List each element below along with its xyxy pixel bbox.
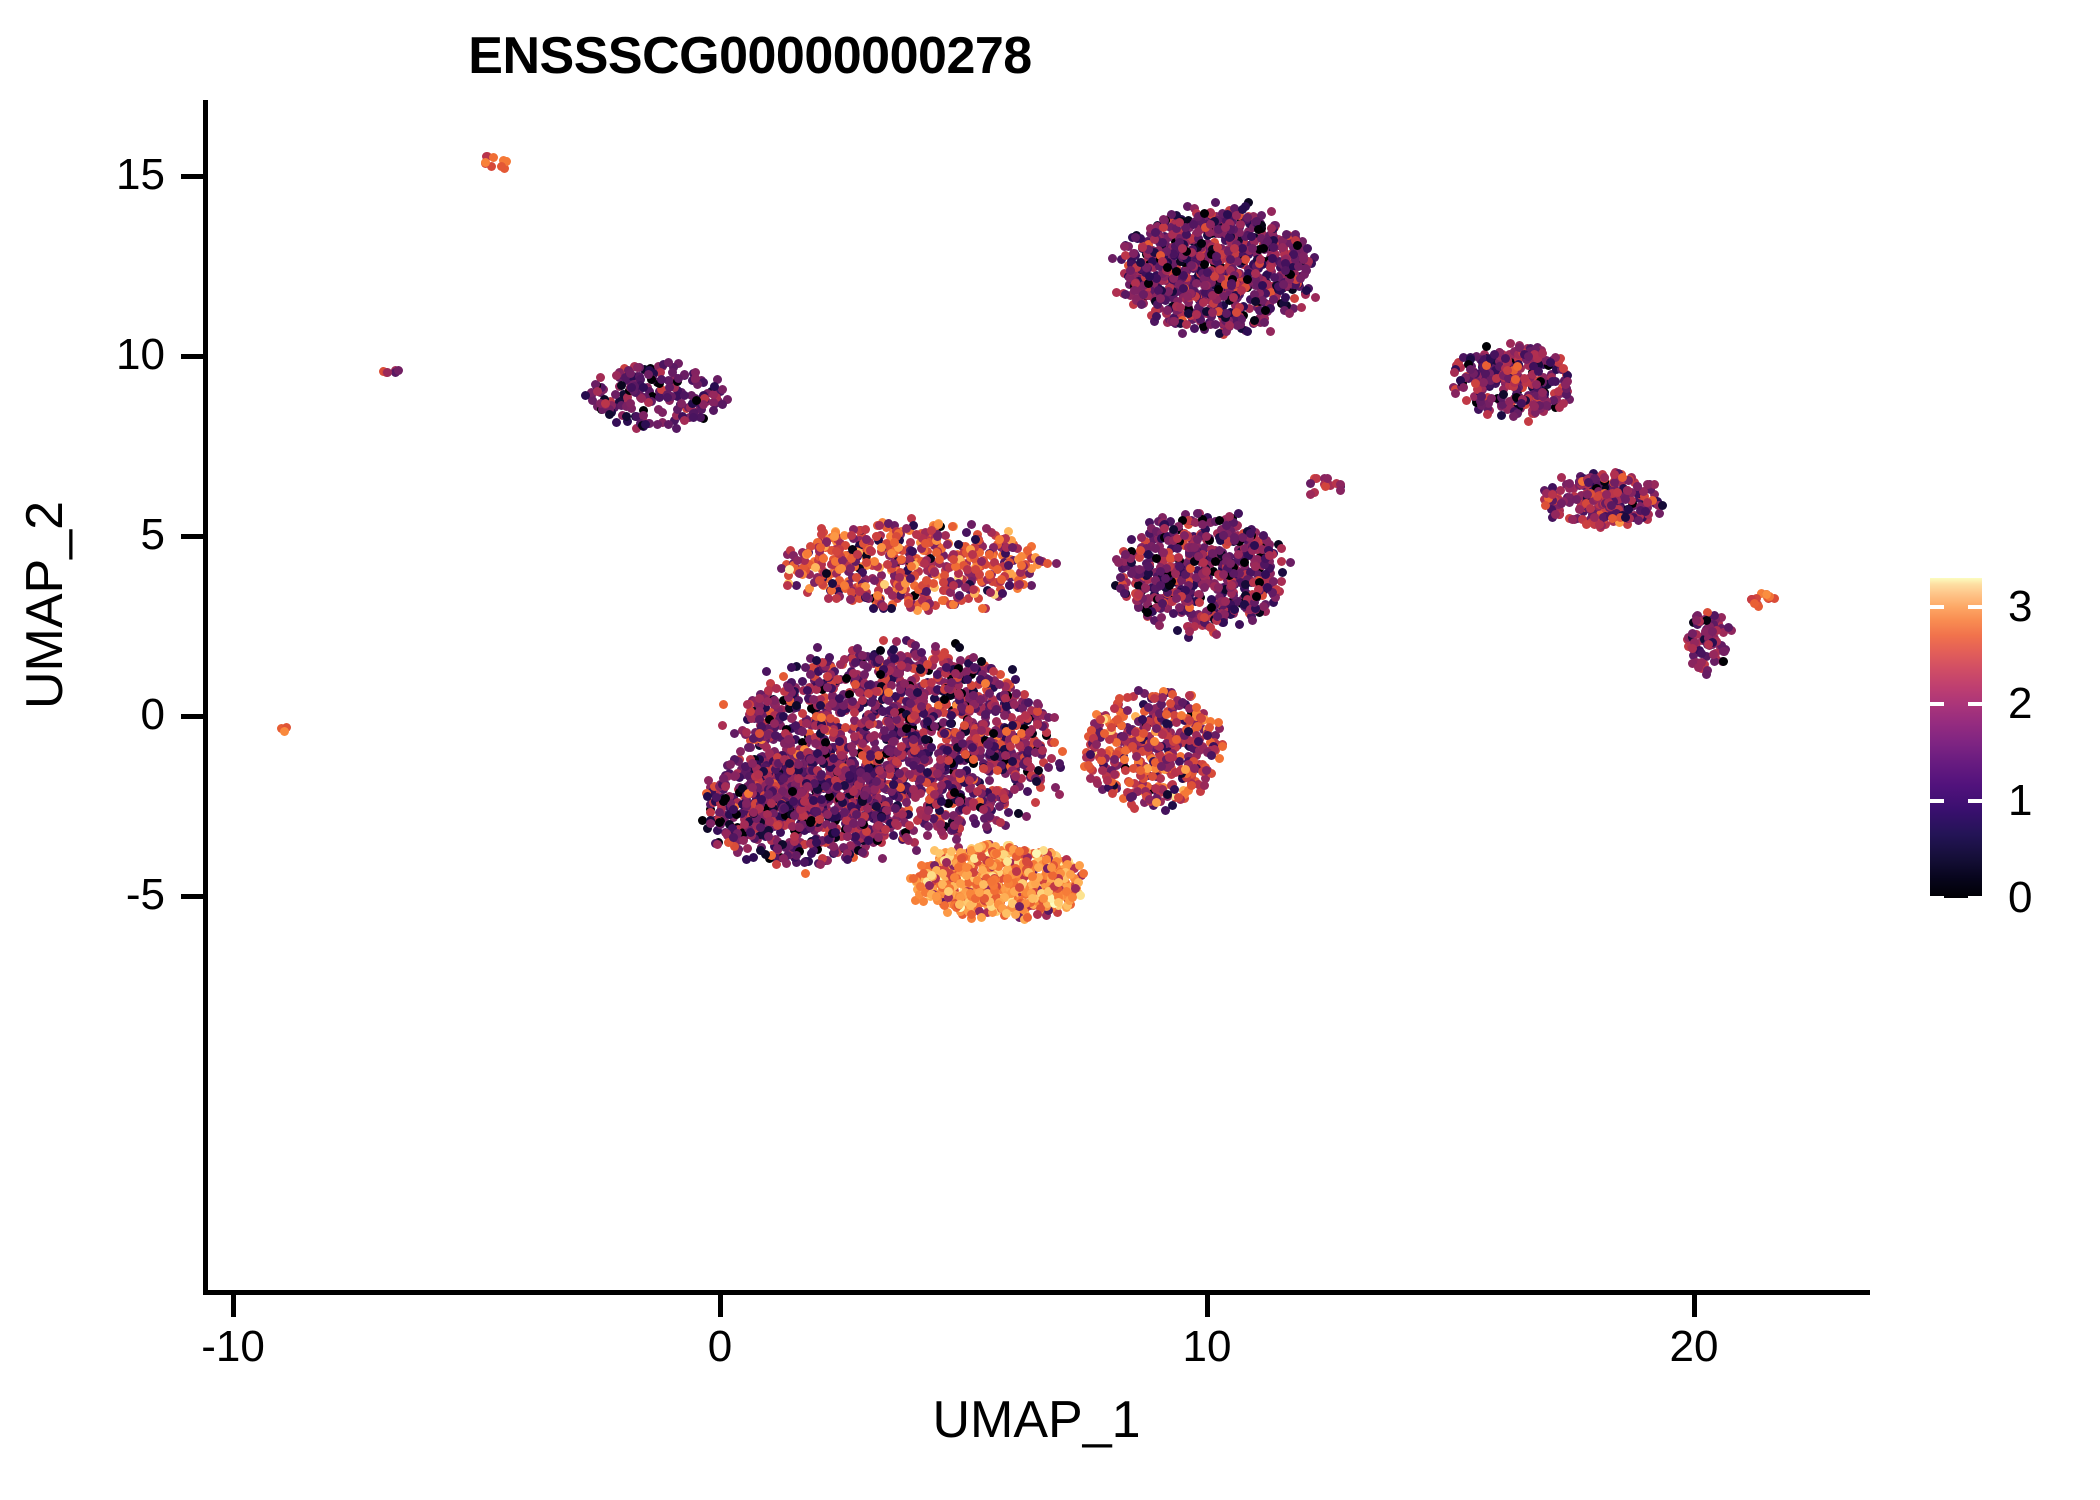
scatter-point	[755, 729, 764, 738]
scatter-point	[923, 768, 932, 777]
scatter-point	[1211, 557, 1220, 566]
scatter-point	[1027, 581, 1036, 590]
scatter-point	[1613, 488, 1622, 497]
scatter-point	[1206, 220, 1215, 229]
scatter-point	[874, 751, 883, 760]
scatter-point	[995, 680, 1004, 689]
scatter-point	[593, 387, 602, 396]
scatter-point	[985, 776, 994, 785]
scatter-point	[627, 383, 636, 392]
scatter-point	[1120, 242, 1129, 251]
scatter-point	[951, 669, 960, 678]
scatter-point	[998, 589, 1007, 598]
scatter-point	[921, 602, 930, 611]
scatter-point	[850, 708, 859, 717]
scatter-point	[795, 569, 804, 578]
scatter-point	[1000, 794, 1009, 803]
scatter-point	[709, 406, 718, 415]
scatter-point	[817, 713, 826, 722]
scatter-point	[1033, 699, 1042, 708]
scatter-point	[889, 831, 898, 840]
scatter-point	[1269, 295, 1278, 304]
scatter-point	[971, 819, 980, 828]
scatter-point	[1243, 275, 1252, 284]
scatter-point	[1190, 543, 1199, 552]
scatter-point	[596, 373, 605, 382]
scatter-point	[891, 804, 900, 813]
scatter-point	[923, 717, 932, 726]
scatter-point	[1724, 623, 1733, 632]
scatter-point	[884, 696, 893, 705]
scatter-point	[1137, 533, 1146, 542]
scatter-point	[943, 540, 952, 549]
scatter-point	[969, 585, 978, 594]
scatter-point	[1022, 812, 1031, 821]
scatter-point	[828, 699, 837, 708]
scatter-point	[736, 747, 745, 756]
scatter-point	[1590, 513, 1599, 522]
scatter-point	[730, 729, 739, 738]
scatter-point	[840, 581, 849, 590]
scatter-point	[1223, 210, 1232, 219]
scatter-point	[1172, 594, 1181, 603]
scatter-point	[905, 770, 914, 779]
scatter-point	[1548, 377, 1557, 386]
scatter-point	[920, 755, 929, 764]
scatter-point	[1762, 590, 1771, 599]
scatter-point	[1282, 230, 1291, 239]
scatter-point	[1203, 268, 1212, 277]
scatter-point	[1015, 580, 1024, 589]
scatter-point	[1023, 787, 1032, 796]
scatter-point	[1708, 627, 1717, 636]
scatter-point	[851, 658, 860, 667]
scatter-point	[832, 594, 841, 603]
scatter-point	[1035, 556, 1044, 565]
scatter-point	[719, 700, 728, 709]
scatter-point	[1290, 294, 1299, 303]
scatter-point	[962, 806, 971, 815]
scatter-point	[850, 732, 859, 741]
scatter-point	[956, 731, 965, 740]
umap-feature-plot: { "plot": { "title": "ENSSSCG00000000278…	[0, 0, 2100, 1500]
scatter-point	[1134, 590, 1143, 599]
scatter-point	[1129, 249, 1138, 258]
scatter-point	[851, 680, 860, 689]
scatter-point	[1538, 388, 1547, 397]
scatter-point	[1197, 239, 1206, 248]
scatter-point	[1155, 621, 1164, 630]
scatter-point	[1499, 390, 1508, 399]
scatter-point	[955, 591, 964, 600]
scatter-point	[866, 546, 875, 555]
scatter-point	[1618, 473, 1627, 482]
scatter-point	[1459, 383, 1468, 392]
scatter-point	[1136, 546, 1145, 555]
scatter-point	[1004, 808, 1013, 817]
scatter-point	[911, 793, 920, 802]
scatter-point	[718, 400, 727, 409]
scatter-point	[993, 766, 1002, 775]
scatter-point	[872, 532, 881, 541]
scatter-point	[1311, 293, 1320, 302]
scatter-point	[1259, 602, 1268, 611]
scatter-point	[965, 705, 974, 714]
scatter-point	[1281, 293, 1290, 302]
scatter-point	[1248, 616, 1257, 625]
scatter-point	[813, 643, 822, 652]
scatter-point	[1286, 558, 1295, 567]
scatter-point	[481, 158, 490, 167]
scatter-point	[1251, 297, 1260, 306]
scatter-point	[940, 695, 949, 704]
scatter-point	[1479, 378, 1488, 387]
scatter-point	[927, 678, 936, 687]
scatter-point	[1302, 286, 1311, 295]
scatter-point	[956, 656, 965, 665]
scatter-point	[1501, 354, 1510, 363]
scatter-point	[743, 700, 752, 709]
scatter-point	[985, 689, 994, 698]
scatter-point	[934, 520, 943, 529]
scatter-point	[955, 643, 964, 652]
scatter-point	[785, 565, 794, 574]
scatter-point	[822, 569, 831, 578]
scatter-point	[644, 370, 653, 379]
scatter-point	[1265, 551, 1274, 560]
scatter-point	[674, 374, 683, 383]
scatter-point	[917, 648, 926, 657]
scatter-point	[1011, 772, 1020, 781]
scatter-point	[1483, 410, 1492, 419]
scatter-point	[1001, 751, 1010, 760]
scatter-point	[801, 869, 810, 878]
scatter-point	[866, 752, 875, 761]
scatter-point	[1277, 557, 1286, 566]
scatter-point	[1192, 310, 1201, 319]
scatter-point	[853, 644, 862, 653]
scatter-point	[770, 719, 779, 728]
scatter-point	[1152, 312, 1161, 321]
scatter-point	[1135, 565, 1144, 574]
scatter-point	[1296, 274, 1305, 283]
scatter-point	[968, 743, 977, 752]
scatter-point	[1247, 232, 1256, 241]
scatter-point	[1524, 417, 1533, 426]
scatter-point	[581, 391, 590, 400]
scatter-point	[1055, 759, 1064, 768]
scatter-point	[1202, 567, 1211, 576]
scatter-point	[1138, 243, 1147, 252]
scatter-point	[1503, 366, 1512, 375]
scatter-point	[1250, 316, 1259, 325]
scatter-point	[840, 655, 849, 664]
scatter-point	[1259, 531, 1268, 540]
scatter-point	[1193, 228, 1202, 237]
scatter-point	[801, 663, 810, 672]
scatter-point	[637, 394, 646, 403]
scatter-point	[1517, 399, 1526, 408]
scatter-point	[1285, 309, 1294, 318]
scatter-point	[1719, 657, 1728, 666]
scatter-point	[866, 733, 875, 742]
scatter-point	[1212, 630, 1221, 639]
scatter-point	[916, 775, 925, 784]
scatter-point	[979, 764, 988, 773]
scatter-point	[1260, 318, 1269, 327]
scatter-point	[1199, 558, 1208, 567]
scatter-point	[1258, 281, 1267, 290]
scatter-point	[851, 832, 860, 841]
scatter-point	[709, 398, 718, 407]
scatter-point	[280, 727, 289, 736]
scatter-point	[792, 581, 801, 590]
scatter-point	[1323, 474, 1332, 483]
scatter-point	[1157, 613, 1166, 622]
scatter-point	[812, 656, 821, 665]
scatter-point	[1466, 365, 1475, 374]
scatter-point	[1246, 529, 1255, 538]
scatter-point	[1655, 509, 1664, 518]
scatter-point	[824, 594, 833, 603]
scatter-point	[1207, 603, 1216, 612]
scatter-point	[1137, 300, 1146, 309]
scatter-point	[995, 802, 1004, 811]
scatter-point	[1023, 757, 1032, 766]
scatter-point	[837, 564, 846, 573]
scatter-point	[1719, 647, 1728, 656]
scatter-point	[1173, 626, 1182, 635]
scatter-point	[1159, 223, 1168, 232]
scatter-point	[1643, 480, 1652, 489]
scatter-point	[1032, 777, 1041, 786]
scatter-point	[931, 642, 940, 651]
scatter-point	[612, 371, 621, 380]
scatter-point	[1008, 543, 1017, 552]
scatter-point	[1213, 612, 1222, 621]
scatter-point	[1033, 707, 1042, 716]
scatter-point	[1108, 254, 1117, 263]
scatter-point	[933, 532, 942, 541]
scatter-point	[890, 708, 899, 717]
scatter-point	[1623, 486, 1632, 495]
scatter-point	[823, 683, 832, 692]
scatter-point	[1183, 292, 1192, 301]
scatter-point	[617, 381, 626, 390]
scatter-point	[1159, 215, 1168, 224]
scatter-point	[955, 769, 964, 778]
scatter-point	[1277, 544, 1286, 553]
scatter-point	[1572, 495, 1581, 504]
scatter-point	[394, 366, 403, 375]
scatter-point	[1175, 218, 1184, 227]
scatter-point	[489, 153, 498, 162]
scatter-point	[920, 559, 929, 568]
scatter-point	[1120, 589, 1129, 598]
scatter-point	[1213, 243, 1222, 252]
scatter-point	[798, 727, 807, 736]
scatter-point	[950, 788, 959, 797]
scatter-point	[949, 555, 958, 564]
scatter-point	[1565, 479, 1574, 488]
scatter-point	[946, 719, 955, 728]
scatter-point	[864, 836, 873, 845]
scatter-point	[680, 416, 689, 425]
scatter-point	[892, 637, 901, 646]
scatter-point	[1497, 411, 1506, 420]
scatter-point	[1211, 320, 1220, 329]
scatter-point	[1211, 198, 1220, 207]
scatter-point	[1195, 598, 1204, 607]
scatter-point	[1222, 309, 1231, 318]
scatter-point	[971, 535, 980, 544]
scatter-point	[860, 670, 869, 679]
scatter-point	[1004, 561, 1013, 570]
scatter-point	[970, 663, 979, 672]
scatter-point	[1267, 207, 1276, 216]
scatter-point	[1557, 499, 1566, 508]
scatter-point	[828, 579, 837, 588]
scatter-point	[1145, 272, 1154, 281]
scatter-point	[1121, 290, 1130, 299]
scatter-point	[658, 408, 667, 417]
scatter-point	[902, 833, 911, 842]
scatter-point	[848, 697, 857, 706]
scatter-point	[803, 686, 812, 695]
scatter-point	[1259, 244, 1268, 253]
scatter-point	[1240, 558, 1249, 567]
scatter-point	[846, 595, 855, 604]
scatter-point	[1173, 544, 1182, 553]
scatter-point	[870, 557, 879, 566]
scatter-point	[1010, 785, 1019, 794]
scatter-point	[922, 576, 931, 585]
scatter-point	[1248, 244, 1257, 253]
scatter-point	[1044, 763, 1053, 772]
scatter-point	[883, 560, 892, 569]
scatter-point	[879, 636, 888, 645]
scatter-point	[1490, 350, 1499, 359]
scatter-point	[710, 382, 719, 391]
scatter-point	[938, 596, 947, 605]
scatter-point	[1509, 412, 1518, 421]
scatter-point	[842, 674, 851, 683]
scatter-point	[949, 581, 958, 590]
scatter-point	[1144, 550, 1153, 559]
scatter-point	[1234, 509, 1243, 518]
scatter-point	[977, 726, 986, 735]
scatter-point	[865, 720, 874, 729]
scatter-point	[1178, 329, 1187, 338]
scatter-point	[798, 677, 807, 686]
scatter-point	[718, 385, 727, 394]
scatter-point	[1582, 520, 1591, 529]
scatter-point	[1200, 583, 1209, 592]
scatter-point	[1237, 286, 1246, 295]
scatter-point	[908, 547, 917, 556]
scatter-point	[1214, 583, 1223, 592]
scatter-point	[1185, 627, 1194, 636]
scatter-point	[1229, 293, 1238, 302]
scatter-point	[969, 653, 978, 662]
scatter-point	[1008, 665, 1017, 674]
scatter-point	[1321, 482, 1330, 491]
scatter-point	[1038, 746, 1047, 755]
scatter-point	[1482, 342, 1491, 351]
scatter-point	[718, 721, 727, 730]
scatter-point	[847, 742, 856, 751]
scatter-point	[853, 550, 862, 559]
scatter-point	[1158, 599, 1167, 608]
scatter-point	[1583, 490, 1592, 499]
scatter-point	[962, 528, 971, 537]
scatter-point	[880, 726, 889, 735]
scatter-point	[904, 599, 913, 608]
scatter-point	[1193, 509, 1202, 518]
scatter-point	[1621, 495, 1630, 504]
scatter-point	[1256, 255, 1265, 264]
scatter-point	[1199, 298, 1208, 307]
scatter-point	[981, 679, 990, 688]
scatter-point	[910, 711, 919, 720]
scatter-point	[1263, 583, 1272, 592]
scatter-point	[954, 689, 963, 698]
scatter-point	[1227, 281, 1236, 290]
scatter-point	[1017, 552, 1026, 561]
scatter-point	[982, 822, 991, 831]
scatter-point	[612, 418, 621, 427]
scatter-point	[921, 539, 930, 548]
scatter-point	[895, 769, 904, 778]
scatter-point	[913, 688, 922, 697]
scatter-point	[1559, 364, 1568, 373]
scatter-point	[936, 755, 945, 764]
scatter-point	[841, 723, 850, 732]
scatter-point	[924, 822, 933, 831]
scatter-point	[910, 746, 919, 755]
scatter-point	[1050, 713, 1059, 722]
scatter-point	[829, 728, 838, 737]
scatter-point	[1270, 273, 1279, 282]
scatter-point	[1190, 324, 1199, 333]
scatter-point	[709, 390, 718, 399]
scatter-point	[1658, 501, 1667, 510]
scatter-point	[855, 688, 864, 697]
scatter-point	[664, 358, 673, 367]
scatter-point	[972, 734, 981, 743]
scatter-point	[819, 554, 828, 563]
scatter-point	[912, 846, 921, 855]
scatter-point	[986, 588, 995, 597]
scatter-point	[653, 420, 662, 429]
scatter-point	[1306, 490, 1315, 499]
scatter-point	[1175, 603, 1184, 612]
scatter-point	[878, 854, 887, 863]
scatter-point	[816, 543, 825, 552]
scatter-point	[1692, 616, 1701, 625]
scatter-point	[1471, 379, 1480, 388]
scatter-point	[657, 375, 666, 384]
scatter-point	[1299, 252, 1308, 261]
scatter-point	[1052, 559, 1061, 568]
scatter-point	[787, 714, 796, 723]
scatter-point	[677, 399, 686, 408]
scatter-point	[874, 833, 883, 842]
scatter-point	[875, 766, 884, 775]
scatter-point	[1750, 599, 1759, 608]
scatter-point	[1151, 228, 1160, 237]
scatter-point	[816, 701, 825, 710]
